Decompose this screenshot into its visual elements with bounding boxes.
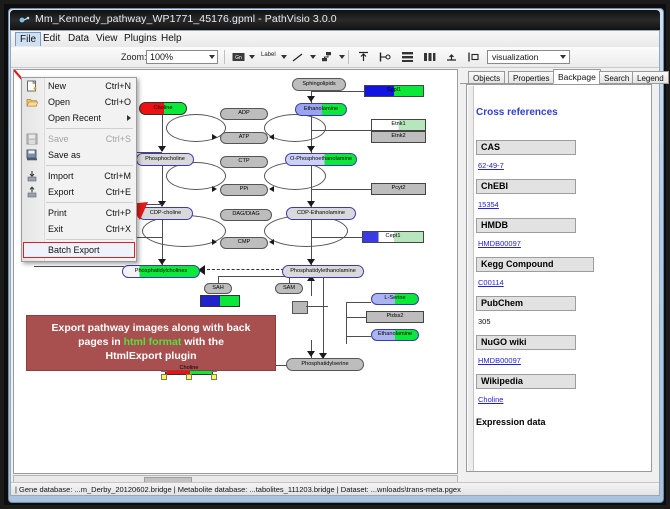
tab-objects[interactable]: Objects (468, 71, 505, 84)
menu-item-label: Save as (48, 150, 81, 160)
node-label: Phosphatidylethanolamine (290, 269, 356, 275)
menu-separator-1 (46, 128, 133, 129)
tab-backpage[interactable]: Backpage (553, 69, 601, 84)
node-ethanolamine-bottom[interactable]: Ethanolamine (371, 329, 419, 341)
node-cdp-ethanolamine[interactable]: CDP-Ethanolamine (286, 207, 356, 220)
submenu-arrow-icon (127, 115, 131, 121)
menu-item-label: Export (48, 187, 74, 197)
same-width-icon[interactable] (421, 50, 437, 64)
node-label: CTP (238, 159, 249, 165)
menu-item-save-as[interactable]: Save as (22, 147, 136, 163)
menu-item-open[interactable]: Open Ctrl+O (22, 94, 136, 110)
edge-ptdss2 (346, 317, 366, 318)
line-icon[interactable] (291, 50, 305, 64)
zoom-select[interactable]: 100% (146, 50, 218, 64)
node-label: ATP (239, 135, 249, 141)
xref-value-wikipedia[interactable]: Choline (478, 395, 503, 404)
node-label: Phosphatidylcholines (135, 269, 188, 275)
menu-file[interactable]: File (15, 32, 41, 46)
menu-item-import[interactable]: Import Ctrl+M (22, 168, 136, 184)
menu-view[interactable]: View (92, 32, 122, 46)
annotation-highlight: html format (124, 336, 182, 348)
align-top-icon[interactable] (355, 50, 371, 64)
save-as-icon (26, 149, 38, 161)
backpage-panel: Cross references CAS 62-49-7 ChEBI 15354… (466, 84, 652, 472)
menu-item-print[interactable]: Print Ctrl+P (22, 205, 136, 221)
menu-item-exit[interactable]: Exit Ctrl+X (22, 221, 136, 237)
xref-value-chebi[interactable]: 15354 (478, 200, 499, 209)
node-sah[interactable]: SAH (204, 283, 232, 294)
node-label: Choline (154, 106, 173, 112)
label-tool-label[interactable]: Label (261, 52, 276, 58)
node-ethanolamine-top[interactable]: Ethanolamine (295, 103, 347, 116)
node-label: Ethanolamine (304, 107, 338, 113)
node-phosphatidylserine[interactable]: Phosphatidylserine (286, 358, 364, 371)
new-document-icon (26, 80, 38, 92)
xref-value-kegg[interactable]: C00114 (478, 278, 504, 287)
application-window: File Edit Data View Plugins Help Zoom: 1… (10, 30, 660, 496)
xref-header-chebi: ChEBI (476, 179, 576, 194)
arrow-left-ppi (269, 186, 274, 192)
menu-item-new[interactable]: New Ctrl+N (22, 78, 136, 94)
node-etnk1[interactable]: Etnk1 (371, 119, 426, 131)
edge-anchor (306, 306, 328, 307)
node-label: Phosphatidylserine (301, 362, 348, 368)
visualization-value: visualization (492, 52, 538, 62)
menu-data[interactable]: Data (64, 32, 93, 46)
node-label: O-Phosphoethanolamine (290, 157, 352, 163)
align-center-icon[interactable] (465, 50, 481, 64)
annotation-line-2: pages in html format with the (33, 335, 269, 349)
arrow-down-4 (307, 96, 315, 102)
node-o-phosphoethanolamine[interactable]: O-Phosphoethanolamine (285, 153, 357, 166)
edge-to-cept1 (311, 237, 362, 238)
node-label: Etnk2 (391, 134, 405, 140)
xref-header-kegg: Kegg Compound (476, 257, 594, 272)
node-label: Cept1 (386, 234, 401, 240)
menu-item-label: Batch Export (48, 245, 100, 255)
node-label: Phosphocholine (145, 157, 185, 163)
arrow-down-9 (307, 351, 315, 357)
node-pc-gene-strip[interactable] (200, 295, 240, 307)
arrow-left-atp (269, 134, 274, 140)
zoom-value: 100% (150, 52, 173, 62)
menu-item-save: Save Ctrl+S (22, 131, 136, 147)
menu-item-shortcut: Ctrl+M (104, 168, 131, 184)
selection-handle-sw[interactable] (161, 374, 167, 380)
menu-item-export[interactable]: Export Ctrl+E (22, 184, 136, 200)
side-panel: Objects Properties Backpage Search Legen… (460, 69, 657, 474)
toolbar-divider-2 (348, 50, 349, 64)
expression-data-heading: Expression data (476, 417, 546, 427)
node-label: SAM (283, 286, 295, 292)
node-label: CDP-choline (150, 211, 181, 217)
tab-legend[interactable]: Legend (632, 71, 669, 84)
node-label: Choline (180, 366, 199, 372)
menu-item-label: Exit (48, 224, 63, 234)
xref-value-nugo[interactable]: HMDB00097 (478, 356, 521, 365)
node-etnk2[interactable]: Etnk2 (371, 131, 426, 143)
zoom-label: Zoom: (121, 52, 147, 62)
node-label: CDP-Ethanolamine (297, 211, 345, 217)
menu-bar: File Edit Data View Plugins Help (11, 31, 659, 48)
arrow-left-cmp (269, 239, 274, 245)
backpage-scrollbar[interactable] (468, 86, 474, 472)
tab-properties[interactable]: Properties (508, 71, 554, 84)
line-chevron-down-icon[interactable] (310, 55, 316, 59)
node-label: Ethanolamine (378, 332, 412, 338)
annotation-line-2a: pages in (78, 336, 124, 348)
arrow-down-5 (307, 146, 315, 152)
node-ptdss2[interactable]: Ptdss2 (366, 311, 424, 323)
annotation-line-1: Export pathway images along with back (33, 321, 269, 335)
annotation-line-3: HtmlExport plugin (33, 349, 269, 363)
menu-help[interactable]: Help (157, 32, 186, 46)
window-title: Mm_Kennedy_pathway_WP1771_45176.gpml - P… (35, 13, 337, 25)
edge-to-serine (346, 302, 371, 303)
datanode-chevron-down-icon[interactable] (249, 55, 255, 59)
node-label: Sgpl1 (387, 88, 401, 94)
status-bar: | Gene database: ...m_Derby_20120602.bri… (11, 482, 659, 495)
xref-value-pubchem: 305 (478, 317, 491, 326)
node-pcyt2[interactable]: Pcyt2 (371, 183, 426, 195)
export-icon (26, 186, 38, 198)
pathvisio-icon (18, 14, 30, 26)
menu-item-label: New (48, 81, 66, 91)
node-label: Sphingolipids (302, 82, 335, 88)
same-height-icon[interactable] (443, 50, 459, 64)
node-label: L-Serine (384, 296, 405, 302)
align-left-icon[interactable] (377, 50, 393, 64)
xref-header-pubchem: PubChem (476, 296, 576, 311)
node-phosphatidylethanolamine[interactable]: Phosphatidylethanolamine (282, 265, 364, 278)
xref-header-wikipedia: Wikipedia (476, 374, 576, 389)
menu-separator-3 (46, 202, 133, 203)
selection-handle-s[interactable] (186, 374, 192, 380)
menu-item-shortcut: Ctrl+X (106, 221, 131, 237)
xref-header-cas: CAS (476, 140, 576, 155)
menu-item-label: Open Recent (48, 113, 101, 123)
menu-item-label: Print (48, 208, 67, 218)
node-cept1[interactable]: Cept1 (362, 231, 424, 243)
menu-plugins[interactable]: Plugins (120, 32, 161, 46)
node-label: CMP (238, 240, 250, 246)
menu-item-shortcut: Ctrl+N (105, 78, 131, 94)
title-bar: Mm_Kennedy_pathway_WP1771_45176.gpml - P… (10, 10, 660, 30)
node-sam[interactable]: SAM (275, 283, 303, 294)
edge-pe-down (323, 278, 324, 360)
cross-references-heading: Cross references (476, 107, 558, 118)
node-label: PPi (240, 187, 249, 193)
toolbar-divider (224, 50, 225, 64)
chevron-down-icon (209, 55, 215, 59)
node-label: Pcyt2 (392, 186, 406, 192)
node-label: SAH (212, 286, 224, 292)
edge-serine-etn (346, 302, 347, 344)
visualization-select[interactable]: visualization (487, 50, 570, 64)
menu-item-label: Save (48, 134, 69, 144)
interaction-chevron-down-icon[interactable] (339, 55, 345, 59)
annotation-callout: Export pathway images along with back pa… (26, 315, 276, 371)
menu-item-label: Open (48, 97, 70, 107)
node-label: Etnk1 (391, 122, 405, 128)
screenshot-root: Mm_Kennedy_pathway_WP1771_45176.gpml - P… (0, 0, 670, 509)
folder-open-icon (26, 96, 38, 108)
edge-to-etn-bot (346, 336, 371, 337)
menu-item-shortcut: Ctrl+E (106, 184, 131, 200)
edge-to-etnk (311, 130, 371, 131)
menu-item-shortcut: Ctrl+O (105, 94, 131, 110)
xref-value-hmdb[interactable]: HMDB00097 (478, 239, 521, 248)
menu-edit[interactable]: Edit (39, 32, 64, 46)
anchor-box (292, 301, 308, 314)
node-l-serine[interactable]: L-Serine (371, 293, 419, 305)
annotation-line-2b: with the (181, 336, 224, 348)
save-disk-icon (26, 133, 38, 145)
node-label: ADP (238, 111, 250, 117)
node-sgpl1[interactable]: Sgpl1 (364, 85, 424, 97)
menu-item-batch-export[interactable]: Batch Export (22, 242, 136, 258)
tab-search[interactable]: Search (599, 71, 634, 84)
menu-item-label: Import (48, 171, 74, 181)
menu-item-shortcut: Ctrl+P (106, 205, 131, 221)
node-label: Ptdss2 (386, 314, 403, 320)
edge-to-pcyt2 (311, 189, 371, 190)
menu-separator-2 (46, 165, 133, 166)
menu-separator-4 (46, 239, 133, 240)
edge-to-sgpl1 (311, 91, 366, 92)
svg-text:Gn: Gn (235, 55, 242, 61)
xref-value-cas[interactable]: 62-49-7 (478, 161, 504, 170)
visualization-chevron-down-icon (560, 55, 566, 59)
interaction-icon[interactable] (320, 50, 334, 64)
import-icon (26, 170, 38, 182)
datanode-icon[interactable]: Gn (230, 50, 246, 64)
xref-header-hmdb: HMDB (476, 218, 576, 233)
xref-header-nugo: NuGO wiki (476, 335, 576, 350)
label-chevron-down-icon[interactable] (281, 55, 287, 59)
node-sphingolipids[interactable]: Sphingolipids (292, 78, 346, 91)
distribute-vertical-icon[interactable] (399, 50, 415, 64)
tool-bar: Zoom: 100% Gn Label (11, 47, 659, 68)
node-label: DAG/DIAG (232, 212, 259, 218)
selection-handle-se[interactable] (211, 374, 217, 380)
file-menu-dropdown[interactable]: New Ctrl+N Open Ctrl+O Open Recent Save (21, 77, 137, 262)
menu-item-shortcut: Ctrl+S (106, 131, 131, 147)
menu-item-open-recent[interactable]: Open Recent (22, 110, 136, 126)
